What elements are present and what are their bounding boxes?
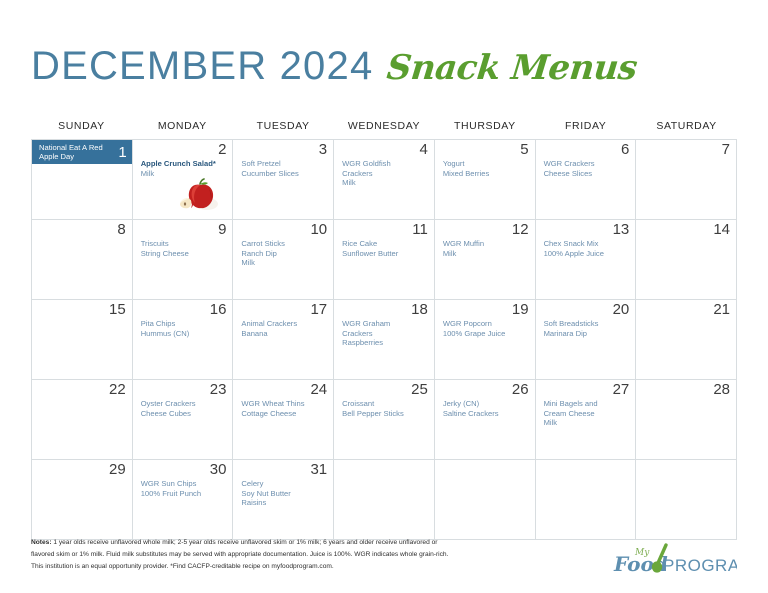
calendar-day-cell-4[interactable]: 4WGR GoldfishCrackersMilk xyxy=(334,140,435,219)
menu-item-list: CroissantBell Pepper Sticks xyxy=(342,399,430,418)
menu-item-list: Rice CakeSunflower Butter xyxy=(342,239,430,258)
menu-item-list: WGR Sun Chips100% Fruit Punch xyxy=(141,479,229,498)
day-number: 25 xyxy=(411,381,428,398)
footer-note-line-3: This institution is an equal opportunity… xyxy=(31,562,611,571)
title-month-year: DECEMBER 2024 xyxy=(31,44,373,89)
weekday-header-tuesday: TUESDAY xyxy=(233,120,334,139)
day-number: 1 xyxy=(118,144,126,161)
menu-item: Sunflower Butter xyxy=(342,249,430,259)
day-number: 6 xyxy=(621,141,629,158)
day-number: 7 xyxy=(722,141,730,158)
day-number: 20 xyxy=(613,301,630,318)
menu-item: 100% Apple Juice xyxy=(544,249,632,259)
day-number: 13 xyxy=(613,221,630,238)
day-number: 4 xyxy=(420,141,428,158)
menu-item: Cottage Cheese xyxy=(241,409,329,419)
weekday-header-thursday: THURSDAY xyxy=(434,120,535,139)
day-number: 18 xyxy=(411,301,428,318)
red-apple-icon xyxy=(175,178,219,212)
title-script-label: Snack Menus xyxy=(385,48,639,88)
calendar-day-cell-16[interactable]: 16Pita ChipsHummus (CN) xyxy=(133,300,234,379)
my-food-program-logo: My Food PROGRAM xyxy=(613,541,737,579)
footer-notes: Notes: 1 year olds receive unflavored wh… xyxy=(31,538,611,574)
calendar-day-cell-empty xyxy=(334,460,435,539)
special-day-label: National Eat A Red Apple Day xyxy=(39,143,111,161)
footer-notes-label: Notes: xyxy=(31,539,52,546)
footer-note-line-1: Notes: 1 year olds receive unflavored wh… xyxy=(31,538,611,547)
menu-item-list: Soft BreadsticksMarinara Dip xyxy=(544,319,632,338)
menu-item-list: Animal CrackersBanana xyxy=(241,319,329,338)
menu-item: Oyster Crackers xyxy=(141,399,229,409)
weekday-header-sunday: SUNDAY xyxy=(31,120,132,139)
menu-item: Milk xyxy=(141,169,229,179)
day-number: 12 xyxy=(512,221,529,238)
menu-item: Bell Pepper Sticks xyxy=(342,409,430,419)
menu-item: Mixed Berries xyxy=(443,169,531,179)
calendar-week-row: 89TriscuitsString Cheese10Carrot SticksR… xyxy=(31,219,737,299)
calendar-day-cell-29[interactable]: 29 xyxy=(32,460,133,539)
calendar-day-cell-9[interactable]: 9TriscuitsString Cheese xyxy=(133,220,234,299)
menu-item: Jerky (CN) xyxy=(443,399,531,409)
day-number: 29 xyxy=(109,461,126,478)
menu-item-list: Soft PretzelCucumber Slices xyxy=(241,159,329,178)
calendar-day-cell-1[interactable]: National Eat A Red Apple Day1 xyxy=(32,140,133,219)
calendar-day-cell-10[interactable]: 10Carrot SticksRanch DipMilk xyxy=(233,220,334,299)
menu-item: Cucumber Slices xyxy=(241,169,329,179)
calendar-grid: SUNDAY MONDAY TUESDAY WEDNESDAY THURSDAY… xyxy=(31,120,737,540)
day-number: 15 xyxy=(109,301,126,318)
menu-item: Milk xyxy=(544,418,632,428)
menu-item: Soft Breadsticks xyxy=(544,319,632,329)
menu-item: Milk xyxy=(241,258,329,268)
calendar-week-row: 2930WGR Sun Chips100% Fruit Punch31Celer… xyxy=(31,459,737,540)
day-number: 10 xyxy=(310,221,327,238)
menu-item-list: WGR Wheat ThinsCottage Cheese xyxy=(241,399,329,418)
menu-item-list: Carrot SticksRanch DipMilk xyxy=(241,239,329,268)
weekday-header-friday: FRIDAY xyxy=(535,120,636,139)
day-number: 28 xyxy=(713,381,730,398)
calendar-day-cell-empty xyxy=(536,460,637,539)
calendar-day-cell-17[interactable]: 17Animal CrackersBanana xyxy=(233,300,334,379)
menu-item: Cheese Slices xyxy=(544,169,632,179)
footer-note-text-1: 1 year olds receive unflavored whole mil… xyxy=(52,539,438,546)
day-number: 31 xyxy=(310,461,327,478)
calendar-week-row: National Eat A Red Apple Day12Apple Crun… xyxy=(31,139,737,219)
calendar-week-row: 1516Pita ChipsHummus (CN)17Animal Cracke… xyxy=(31,299,737,379)
menu-item-list: WGR GrahamCrackersRaspberries xyxy=(342,319,430,348)
calendar-week-row: 2223Oyster CrackersCheese Cubes24WGR Whe… xyxy=(31,379,737,459)
menu-item-list: Mini Bagels andCream CheeseMilk xyxy=(544,399,632,428)
calendar-day-cell-26[interactable]: 26Jerky (CN)Saltine Crackers xyxy=(435,380,536,459)
day-number: 2 xyxy=(218,141,226,158)
menu-item: Raisins xyxy=(241,498,329,508)
weekday-header-monday: MONDAY xyxy=(132,120,233,139)
calendar-day-cell-12[interactable]: 12WGR MuffinMilk xyxy=(435,220,536,299)
footer-note-line-2: flavored skim or 1% milk. Fluid milk sub… xyxy=(31,550,611,559)
menu-item-list: Oyster CrackersCheese Cubes xyxy=(141,399,229,418)
weekday-header-wednesday: WEDNESDAY xyxy=(334,120,435,139)
calendar-day-cell-27[interactable]: 27Mini Bagels andCream CheeseMilk xyxy=(536,380,637,459)
day-number: 14 xyxy=(713,221,730,238)
day-number: 27 xyxy=(613,381,630,398)
menu-item: Banana xyxy=(241,329,329,339)
calendar-day-cell-5[interactable]: 5YogurtMixed Berries xyxy=(435,140,536,219)
calendar-day-cell-25[interactable]: 25CroissantBell Pepper Sticks xyxy=(334,380,435,459)
menu-item: Cheese Cubes xyxy=(141,409,229,419)
weekday-header-row: SUNDAY MONDAY TUESDAY WEDNESDAY THURSDAY… xyxy=(31,120,737,139)
menu-item-list: Apple Crunch Salad*Milk xyxy=(141,159,229,178)
menu-item: Cream Cheese xyxy=(544,409,632,419)
menu-item: Mini Bagels and xyxy=(544,399,632,409)
menu-item: Rice Cake xyxy=(342,239,430,249)
menu-item-list: WGR Popcorn100% Grape Juice xyxy=(443,319,531,338)
menu-item: WGR Wheat Thins xyxy=(241,399,329,409)
calendar-day-cell-14[interactable]: 14 xyxy=(636,220,737,299)
calendar-day-cell-8[interactable]: 8 xyxy=(32,220,133,299)
menu-item: WGR Popcorn xyxy=(443,319,531,329)
menu-item: WGR Goldfish xyxy=(342,159,430,169)
menu-item: Ranch Dip xyxy=(241,249,329,259)
menu-item: Croissant xyxy=(342,399,430,409)
menu-item: Soft Pretzel xyxy=(241,159,329,169)
menu-item: WGR Sun Chips xyxy=(141,479,229,489)
calendar-day-cell-2[interactable]: 2Apple Crunch Salad*Milk xyxy=(133,140,234,219)
calendar-day-cell-18[interactable]: 18WGR GrahamCrackersRaspberries xyxy=(334,300,435,379)
calendar-day-cell-31[interactable]: 31CelerySoy Nut ButterRaisins xyxy=(233,460,334,539)
calendar-day-cell-20[interactable]: 20Soft BreadsticksMarinara Dip xyxy=(536,300,637,379)
menu-item-list: YogurtMixed Berries xyxy=(443,159,531,178)
menu-item: 100% Grape Juice xyxy=(443,329,531,339)
calendar-day-cell-15[interactable]: 15 xyxy=(32,300,133,379)
menu-item: Saltine Crackers xyxy=(443,409,531,419)
menu-item: Crackers xyxy=(342,329,430,339)
calendar-day-cell-13[interactable]: 13Chex Snack Mix100% Apple Juice xyxy=(536,220,637,299)
menu-item-list: CelerySoy Nut ButterRaisins xyxy=(241,479,329,508)
menu-item: Carrot Sticks xyxy=(241,239,329,249)
day-number: 3 xyxy=(319,141,327,158)
day-number: 23 xyxy=(210,381,227,398)
menu-item-list: TriscuitsString Cheese xyxy=(141,239,229,258)
menu-item: Raspberries xyxy=(342,338,430,348)
menu-item: Yogurt xyxy=(443,159,531,169)
menu-item-list: Jerky (CN)Saltine Crackers xyxy=(443,399,531,418)
calendar-day-cell-6[interactable]: 6WGR CrackersCheese Slices xyxy=(536,140,637,219)
calendar-day-cell-22[interactable]: 22 xyxy=(32,380,133,459)
calendar-day-cell-30[interactable]: 30WGR Sun Chips100% Fruit Punch xyxy=(133,460,234,539)
calendar-day-cell-23[interactable]: 23Oyster CrackersCheese Cubes xyxy=(133,380,234,459)
special-day-banner: National Eat A Red Apple Day1 xyxy=(32,140,132,164)
menu-item: Crackers xyxy=(342,169,430,179)
menu-item-list: Chex Snack Mix100% Apple Juice xyxy=(544,239,632,258)
page-title: DECEMBER 2024 Snack Menus xyxy=(31,44,637,92)
day-number: 9 xyxy=(218,221,226,238)
day-number: 22 xyxy=(109,381,126,398)
calendar-day-cell-empty xyxy=(435,460,536,539)
calendar-day-cell-11[interactable]: 11Rice CakeSunflower Butter xyxy=(334,220,435,299)
day-number: 21 xyxy=(713,301,730,318)
day-number: 24 xyxy=(310,381,327,398)
weekday-header-saturday: SATURDAY xyxy=(636,120,737,139)
calendar-day-cell-28[interactable]: 28 xyxy=(636,380,737,459)
day-number: 26 xyxy=(512,381,529,398)
day-number: 16 xyxy=(210,301,227,318)
menu-item: Milk xyxy=(342,178,430,188)
menu-item-list: WGR GoldfishCrackersMilk xyxy=(342,159,430,188)
menu-item: Pita Chips xyxy=(141,319,229,329)
menu-item: Milk xyxy=(443,249,531,259)
menu-item: 100% Fruit Punch xyxy=(141,489,229,499)
menu-item: WGR Graham xyxy=(342,319,430,329)
menu-item: String Cheese xyxy=(141,249,229,259)
menu-item-list: WGR MuffinMilk xyxy=(443,239,531,258)
menu-item-list: Pita ChipsHummus (CN) xyxy=(141,319,229,338)
menu-item: Hummus (CN) xyxy=(141,329,229,339)
calendar-day-cell-19[interactable]: 19WGR Popcorn100% Grape Juice xyxy=(435,300,536,379)
calendar-day-cell-3[interactable]: 3Soft PretzelCucumber Slices xyxy=(233,140,334,219)
calendar-day-cell-21[interactable]: 21 xyxy=(636,300,737,379)
menu-item: Triscuits xyxy=(141,239,229,249)
calendar-day-cell-7[interactable]: 7 xyxy=(636,140,737,219)
day-number: 30 xyxy=(210,461,227,478)
menu-item: Marinara Dip xyxy=(544,329,632,339)
day-number: 17 xyxy=(310,301,327,318)
day-number: 11 xyxy=(412,221,428,238)
logo-artwork: My Food PROGRAM xyxy=(613,541,737,579)
menu-item: Celery xyxy=(241,479,329,489)
menu-item: Soy Nut Butter xyxy=(241,489,329,499)
calendar-day-cell-24[interactable]: 24WGR Wheat ThinsCottage Cheese xyxy=(233,380,334,459)
menu-item: Chex Snack Mix xyxy=(544,239,632,249)
menu-item: Apple Crunch Salad* xyxy=(141,159,229,169)
menu-item-list: WGR CrackersCheese Slices xyxy=(544,159,632,178)
day-number: 19 xyxy=(512,301,529,318)
menu-item: WGR Muffin xyxy=(443,239,531,249)
calendar-day-cell-empty xyxy=(636,460,737,539)
menu-item: Animal Crackers xyxy=(241,319,329,329)
menu-item: WGR Crackers xyxy=(544,159,632,169)
day-number: 8 xyxy=(117,221,125,238)
day-number: 5 xyxy=(520,141,528,158)
logo-program-text: PROGRAM xyxy=(663,556,737,575)
